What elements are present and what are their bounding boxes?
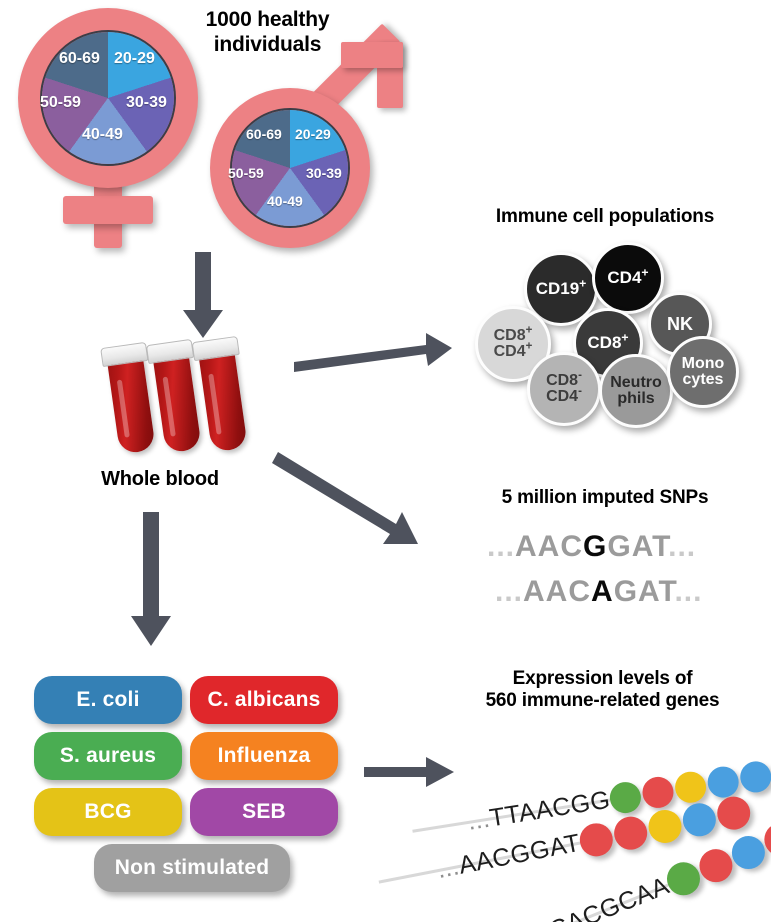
sequence-bases: AACGGAT: [456, 828, 582, 879]
snp-bases-post: GAT: [607, 530, 668, 563]
expression-chain: ...TTAACGG: [608, 758, 771, 814]
expression-bead: [662, 857, 705, 900]
snp-suffix-dots: ...: [674, 575, 702, 608]
pie-label-20-29: 20-29: [114, 50, 155, 68]
stimulus-label: Influenza: [218, 744, 311, 768]
pie-label-50-59: 50-59: [228, 165, 264, 181]
pie-label-60-69: 60-69: [246, 126, 282, 142]
arrow-cohort-to-blood: [180, 252, 226, 340]
expression-bead: [738, 759, 771, 794]
female-gender-symbol: 20-29 30-39 40-49 50-59 60-69: [18, 8, 198, 258]
immune-cell-label: CD8+CD4+: [494, 328, 533, 361]
stimulus-label: S. aureus: [60, 744, 156, 768]
stimulus-label: C. albicans: [207, 688, 320, 712]
blood-tube-body: [199, 350, 248, 452]
snp-bases-pre: AAC: [523, 575, 591, 608]
section-title-expression: Expression levels of560 immune-related g…: [440, 668, 765, 713]
female-symbol-crossbar: [63, 196, 153, 224]
expression-bead: [759, 818, 771, 861]
pie-label-30-39: 30-39: [306, 165, 342, 181]
dna-sequence-label: ...CACGCAA: [525, 871, 674, 922]
snp-sequence-row: ...AACGGAT...: [487, 530, 696, 564]
male-symbol-arrowhead-horizontal: [341, 42, 403, 68]
immune-cell-label: Neutrophils: [610, 375, 662, 408]
snp-suffix-dots: ...: [668, 530, 696, 563]
section-title-snps: 5 million imputed SNPs: [450, 487, 760, 509]
blood-tube-highlight: [163, 377, 176, 437]
sequence-prefix-dots: ...: [525, 918, 556, 922]
whole-blood-tubes: [108, 334, 288, 459]
stimulus-bcg[interactable]: BCG: [34, 788, 182, 836]
stimulus-non-stimulated[interactable]: Non stimulated: [94, 844, 290, 892]
immune-cell-label: CD8+: [587, 334, 628, 351]
immune-cell-monocytes[interactable]: Monocytes: [667, 336, 739, 408]
study-design-diagram: 1000 healthyindividuals Immune cell popu…: [0, 0, 771, 922]
stimulus-label: BCG: [84, 800, 131, 824]
blood-tube: [197, 337, 248, 453]
snp-bases-pre: AAC: [515, 530, 583, 563]
immune-cell-neutrophils[interactable]: Neutrophils: [599, 354, 673, 428]
dna-strand-line: [378, 841, 580, 883]
dna-sequence-label: ...AACGGAT: [435, 828, 583, 884]
snp-sequence-row: ...AACAGAT...: [495, 575, 702, 609]
stimulus-label: SEB: [242, 800, 286, 824]
expression-bead: [714, 793, 753, 832]
dna-strand-line: [412, 798, 610, 832]
section-title-immune-cells: Immune cell populations: [450, 206, 760, 228]
sequence-prefix-dots: ...: [435, 852, 462, 884]
stimulus-influenza[interactable]: Influenza: [190, 732, 338, 780]
immune-cell-label: CD4+: [607, 269, 648, 286]
snp-highlight-base: G: [583, 530, 607, 563]
pie-label-50-59: 50-59: [40, 94, 81, 112]
stimulus-c-albicans[interactable]: C. albicans: [190, 676, 338, 724]
expression-bead: [673, 769, 708, 804]
pie-label-40-49: 40-49: [82, 126, 123, 144]
snp-sequence-group: ...AACGGAT... ...AACAGAT...: [487, 530, 747, 620]
stimulus-s-aureus[interactable]: S. aureus: [34, 732, 182, 780]
expression-bead: [680, 800, 719, 839]
expression-bead: [640, 774, 675, 809]
sequence-bases: TTAACGG: [487, 785, 612, 832]
pie-label-40-49: 40-49: [267, 193, 303, 209]
arrow-blood-to-snps: [278, 452, 443, 552]
snp-bases-post: GAT: [614, 575, 675, 608]
snp-highlight-base: A: [591, 575, 614, 608]
blood-tube-highlight: [117, 380, 129, 438]
arrow-blood-to-stimuli: [130, 512, 174, 648]
immune-cell-label: CD19+: [536, 280, 587, 297]
dna-strand-line: [477, 883, 668, 922]
sequence-bases: CACGCAA: [545, 871, 673, 922]
expression-chain: ...AACGGAT: [577, 793, 755, 859]
stimuli-panel: E. coli C. albicans S. aureus Influenza …: [34, 676, 354, 896]
male-gender-symbol: 20-29 30-39 40-49 50-59 60-69: [205, 42, 420, 247]
label-whole-blood: Whole blood: [60, 468, 260, 492]
stimulus-label: E. coli: [76, 688, 139, 712]
expression-bead: [727, 831, 770, 874]
immune-cell-label: Monocytes: [682, 356, 725, 389]
pie-label-60-69: 60-69: [59, 50, 100, 68]
expression-bead: [611, 813, 650, 852]
blood-tube-body: [153, 353, 202, 453]
immune-cell-label: CD8-CD4-: [546, 373, 582, 406]
arrow-stimuli-to-expression: [364, 757, 456, 789]
blood-tube-body: [107, 356, 156, 454]
stimulus-label: Non stimulated: [115, 856, 269, 880]
stimulus-seb[interactable]: SEB: [190, 788, 338, 836]
pie-label-20-29: 20-29: [295, 126, 331, 142]
expression-bead: [646, 807, 685, 846]
expression-bead: [577, 820, 616, 859]
expression-bead: [694, 844, 737, 887]
arrow-blood-to-immune-cells: [294, 330, 454, 380]
dna-sequence-label: ...TTAACGG: [466, 785, 613, 836]
expression-bead: [705, 764, 740, 799]
pie-label-30-39: 30-39: [126, 94, 167, 112]
stimulus-e-coli[interactable]: E. coli: [34, 676, 182, 724]
immune-cell-cd4pos[interactable]: CD4+: [592, 242, 664, 314]
blood-tube-highlight: [208, 374, 221, 435]
sequence-prefix-dots: ...: [466, 804, 492, 835]
immune-cell-cd8negcd4neg[interactable]: CD8-CD4-: [527, 352, 601, 426]
expression-bead: [608, 779, 643, 814]
snp-prefix-dots: ...: [495, 575, 523, 608]
snp-prefix-dots: ...: [487, 530, 515, 563]
expression-chain: ...CACGCAA: [662, 804, 771, 900]
immune-cell-label: NK: [667, 315, 693, 333]
